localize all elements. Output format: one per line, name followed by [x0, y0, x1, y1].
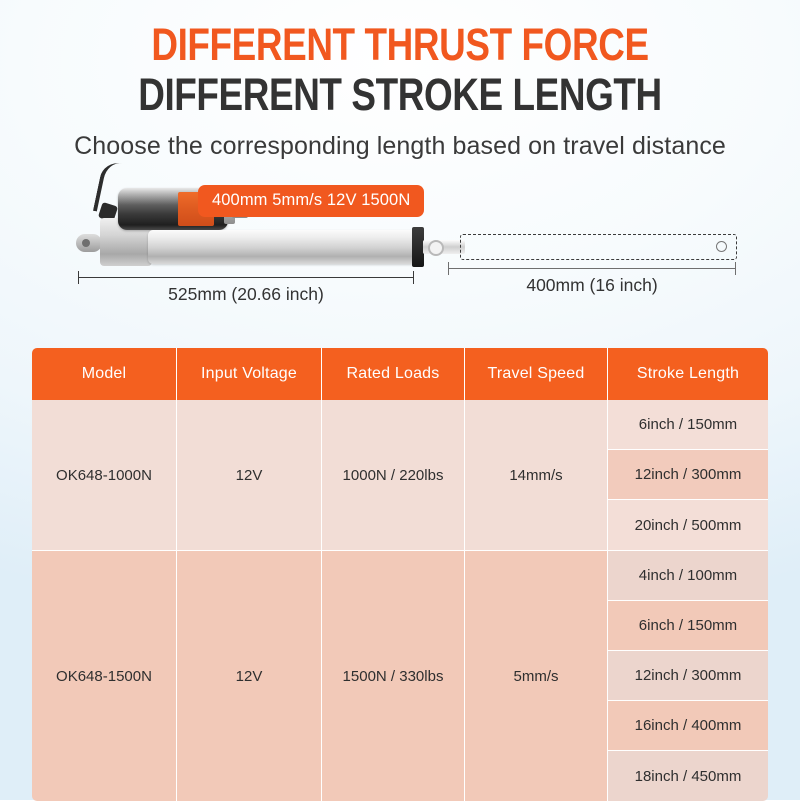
- column-header-input-voltage: Input Voltage: [177, 348, 322, 400]
- cell-rated-loads: 1000N / 220lbs: [322, 400, 465, 550]
- header-block: DIFFERENT THRUST FORCE DIFFERENT STROKE …: [0, 22, 800, 161]
- table-body: OK648-1000N 12V 1000N / 220lbs 14mm/s 6i…: [32, 400, 768, 801]
- cell-model: OK648-1500N: [32, 551, 177, 801]
- stroke-option: 6inch / 150mm: [608, 601, 768, 651]
- dimension-label-body: 525mm (20.66 inch): [78, 284, 414, 305]
- dimension-line-body: [78, 277, 414, 278]
- table-row: OK648-1000N 12V 1000N / 220lbs 14mm/s 6i…: [32, 400, 768, 551]
- dimension-tick-start: [78, 271, 79, 284]
- dimension-line-stroke: [448, 268, 736, 269]
- column-header-model: Model: [32, 348, 177, 400]
- headline-secondary: DIFFERENT STROKE LENGTH: [72, 72, 728, 118]
- cell-input-voltage: 12V: [177, 400, 322, 550]
- stroke-option: 6inch / 150mm: [608, 400, 768, 450]
- cell-model: OK648-1000N: [32, 400, 177, 550]
- spec-badge: 400mm 5mm/s 12V 1500N: [198, 185, 424, 217]
- cell-stroke-length-list: 4inch / 100mm 6inch / 150mm 12inch / 300…: [608, 551, 768, 801]
- column-header-travel-speed: Travel Speed: [465, 348, 608, 400]
- column-header-rated-loads: Rated Loads: [322, 348, 465, 400]
- actuator-tube: [148, 230, 416, 264]
- stroke-option: 18inch / 450mm: [608, 751, 768, 801]
- stroke-tick-start: [448, 262, 449, 275]
- rod-eye-icon: [428, 240, 444, 256]
- extended-mounting-hole-icon: [716, 241, 727, 252]
- cell-travel-speed: 5mm/s: [465, 551, 608, 801]
- stroke-extension-outline: [460, 234, 737, 260]
- stroke-option: 12inch / 300mm: [608, 651, 768, 701]
- cell-rated-loads: 1500N / 330lbs: [322, 551, 465, 801]
- infographic-page: DIFFERENT THRUST FORCE DIFFERENT STROKE …: [0, 0, 800, 800]
- cell-travel-speed: 14mm/s: [465, 400, 608, 550]
- cell-input-voltage: 12V: [177, 551, 322, 801]
- table-header-row: Model Input Voltage Rated Loads Travel S…: [32, 348, 768, 400]
- stroke-option: 20inch / 500mm: [608, 500, 768, 550]
- spec-table: Model Input Voltage Rated Loads Travel S…: [32, 348, 768, 801]
- headline-primary: DIFFERENT THRUST FORCE: [72, 22, 728, 68]
- rear-mounting-hole-icon: [82, 239, 90, 247]
- subtitle: Choose the corresponding length based on…: [0, 132, 800, 161]
- dimension-tick-end: [413, 271, 414, 284]
- stroke-option: 4inch / 100mm: [608, 551, 768, 601]
- dimension-label-stroke: 400mm (16 inch): [448, 275, 736, 296]
- column-header-stroke-length: Stroke Length: [608, 348, 768, 400]
- stroke-option: 12inch / 300mm: [608, 450, 768, 500]
- cell-stroke-length-list: 6inch / 150mm 12inch / 300mm 20inch / 50…: [608, 400, 768, 550]
- stroke-tick-end: [735, 262, 736, 275]
- stroke-option: 16inch / 400mm: [608, 701, 768, 751]
- table-row: OK648-1500N 12V 1500N / 330lbs 5mm/s 4in…: [32, 551, 768, 801]
